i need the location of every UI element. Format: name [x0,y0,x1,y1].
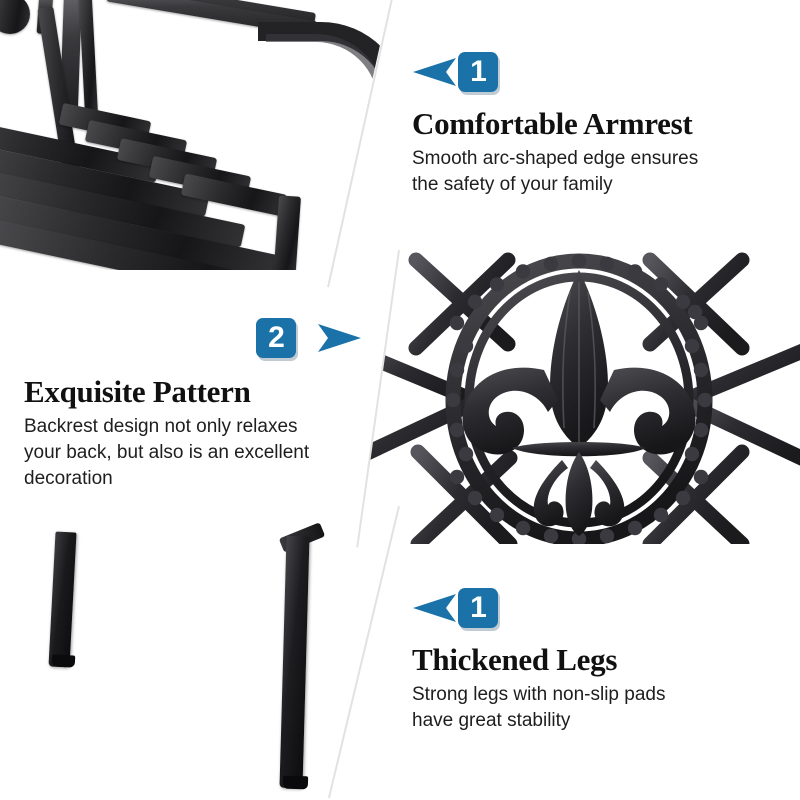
feature-heading: Comfortable Armrest [412,106,788,142]
step-badge: 1 [458,588,498,628]
feature-body-line: your back, but also is an excellent [24,440,374,466]
fleur-de-lis-photo [358,252,800,544]
infographic-canvas: 1 Comfortable Armrest Smooth arc-shaped … [0,0,800,800]
badge-row: 1 [412,588,788,628]
feature-body: Backrest design not only relaxes your ba… [24,414,374,493]
feature-body-line: Strong legs with non-slip pads [412,682,788,708]
badge-row: 1 [412,52,788,92]
feature-heading: Exquisite Pattern [24,374,374,410]
arrow-left-icon [412,57,458,87]
feature-body: Strong legs with non-slip pads have grea… [412,682,788,734]
legs-photo [0,512,400,800]
feature-callout-exquisite-pattern: 2 Exquisite Pattern Backrest design not … [24,318,374,493]
feature-body-line: Backrest design not only relaxes [24,414,374,440]
step-badge: 1 [458,52,498,92]
feature-body-line: Smooth arc-shaped edge ensures [412,146,788,172]
feature-body-line: decoration [24,466,374,492]
feature-heading: Thickened Legs [412,642,788,678]
step-badge: 2 [256,318,296,358]
arrow-right-icon [316,323,362,353]
badge-row: 2 [24,318,374,358]
feature-callout-comfortable-armrest: 1 Comfortable Armrest Smooth arc-shaped … [412,52,788,198]
armrest-photo [0,0,400,270]
feature-callout-thickened-legs: 1 Thickened Legs Strong legs with non-sl… [412,588,788,734]
feature-body-line: have great stability [412,708,788,734]
feature-body-line: the safety of your family [412,172,788,198]
arrow-left-icon [412,593,458,623]
feature-body: Smooth arc-shaped edge ensures the safet… [412,146,788,198]
